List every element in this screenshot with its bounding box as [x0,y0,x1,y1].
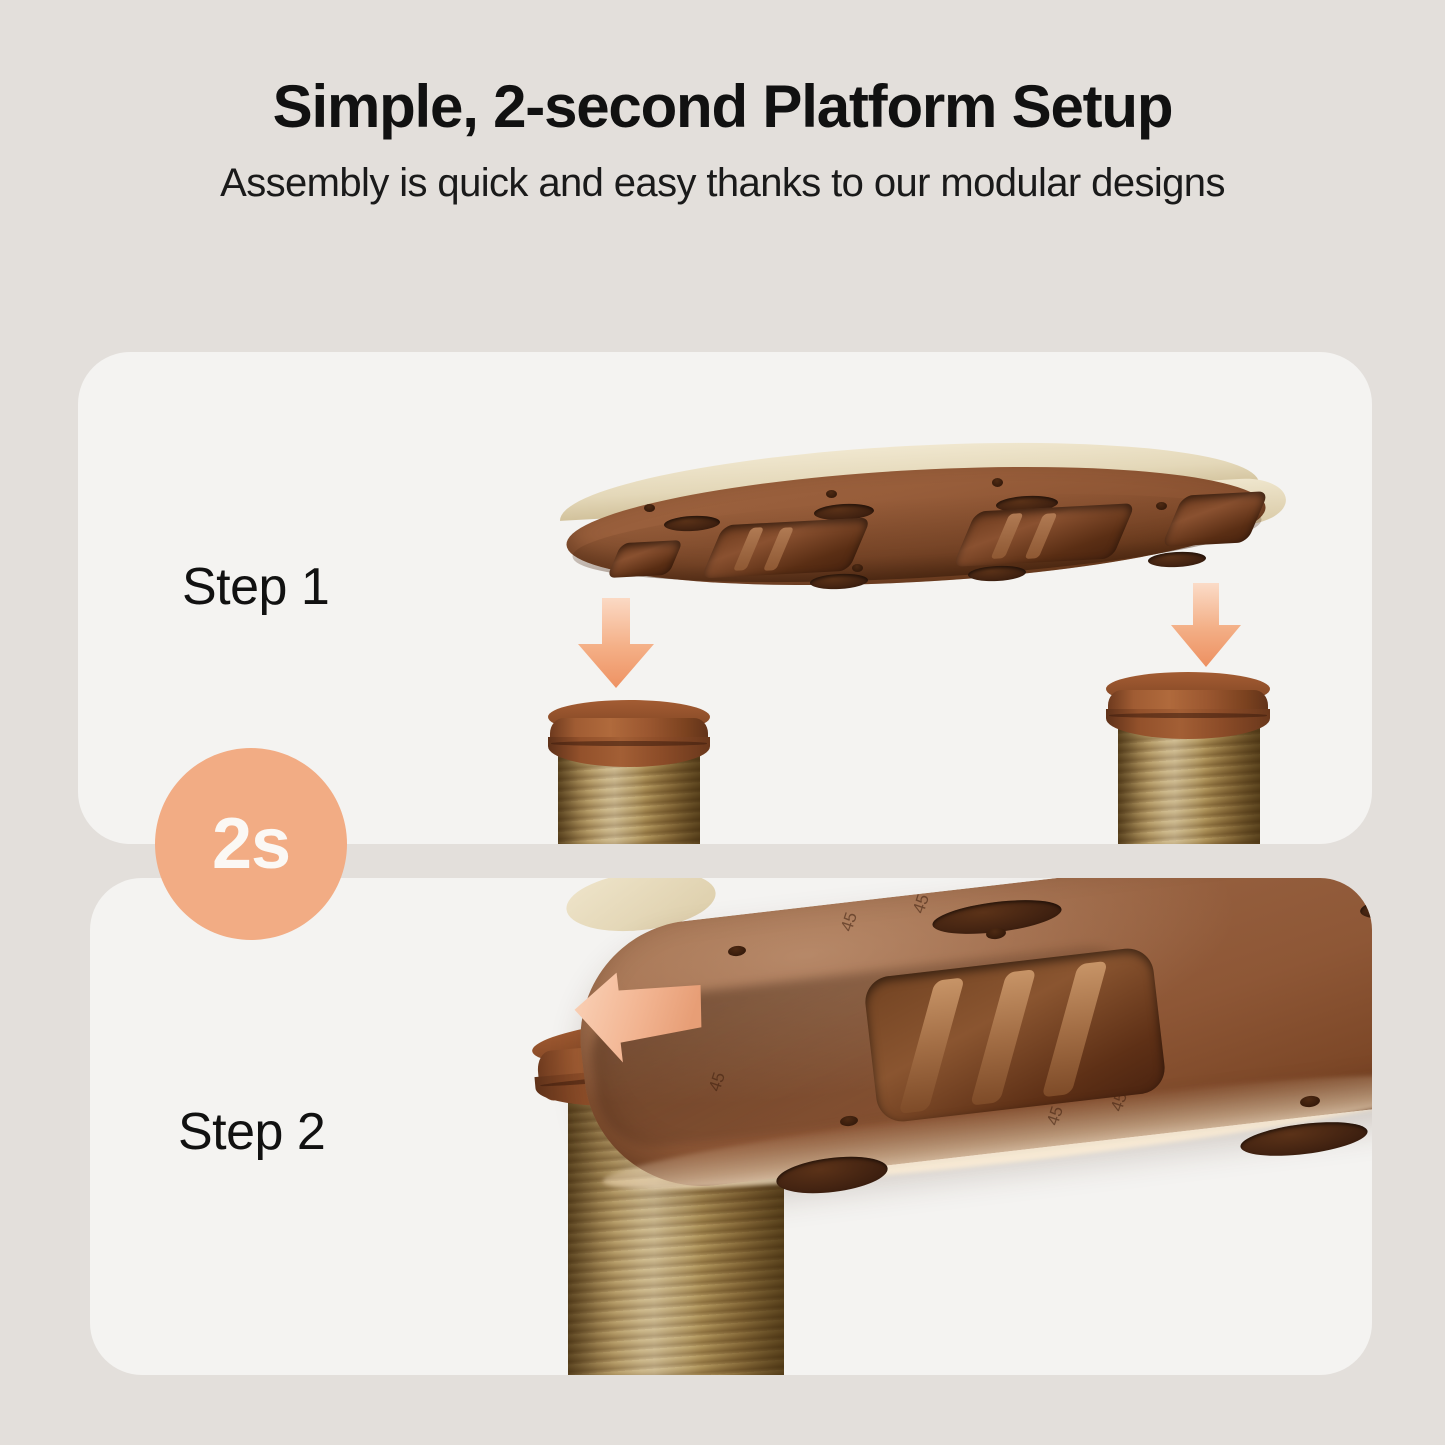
duration-badge: 2s [155,748,347,940]
step-2-label: Step 2 [178,1102,325,1162]
emboss-mark: 45 [1383,916,1408,940]
page-title: Simple, 2-second Platform Setup [0,72,1445,141]
duration-badge-label: 2s [212,808,290,880]
step-1-label: Step 1 [182,557,329,617]
page-subtitle: Assembly is quick and easy thanks to our… [0,161,1445,206]
page-header: Simple, 2-second Platform Setup Assembly… [0,0,1445,206]
